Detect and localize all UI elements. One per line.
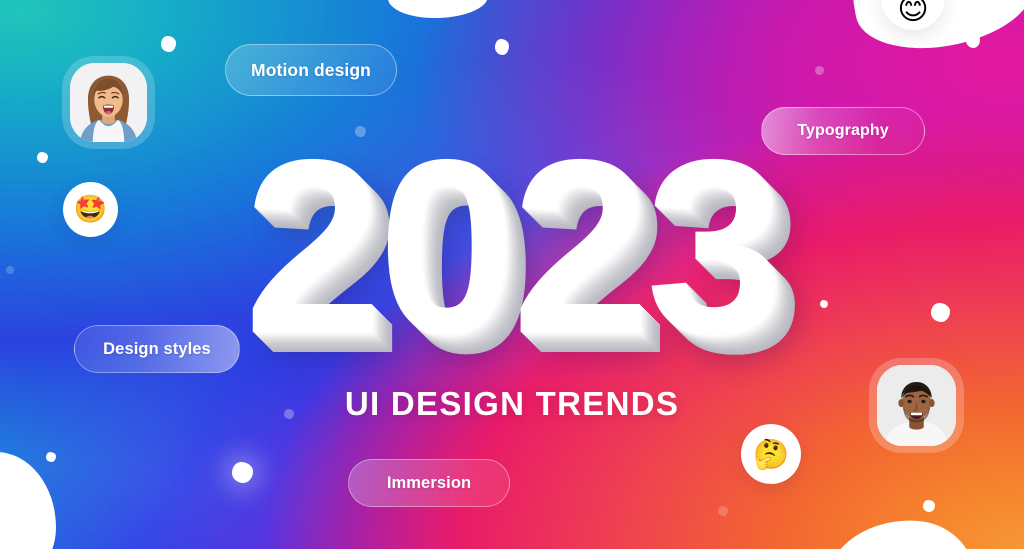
- tag-pill-label: Immersion: [387, 474, 471, 493]
- avatar-woman-illustration: [70, 63, 147, 142]
- avatar-photo: [70, 63, 147, 142]
- avatar-woman[interactable]: [62, 56, 155, 149]
- avatar-man-illustration: [877, 365, 956, 446]
- tag-pill-label: Typography: [797, 122, 888, 140]
- star-struck-emoji: 🤩: [74, 196, 108, 223]
- thinking-face-emoji: 🤔: [753, 440, 789, 469]
- avatar-photo: [877, 365, 956, 446]
- tag-pill-label: Motion design: [251, 60, 371, 81]
- tag-pill-label: Design styles: [103, 340, 211, 359]
- star-struck-emoji-bubble[interactable]: 🤩: [63, 182, 118, 237]
- avatar-man[interactable]: [869, 358, 964, 453]
- poster-canvas: 2023 UI DESIGN TRENDS Motion design Typo…: [0, 0, 1024, 549]
- thinking-face-emoji-bubble[interactable]: 🤔: [741, 424, 801, 484]
- tag-pill-immersion[interactable]: Immersion: [348, 459, 510, 507]
- tag-pill-design-styles[interactable]: Design styles: [74, 325, 240, 373]
- tag-pill-typography[interactable]: Typography: [761, 107, 925, 155]
- tag-pill-motion-design[interactable]: Motion design: [225, 44, 397, 96]
- smiling-face-emoji: 😊: [897, 0, 928, 25]
